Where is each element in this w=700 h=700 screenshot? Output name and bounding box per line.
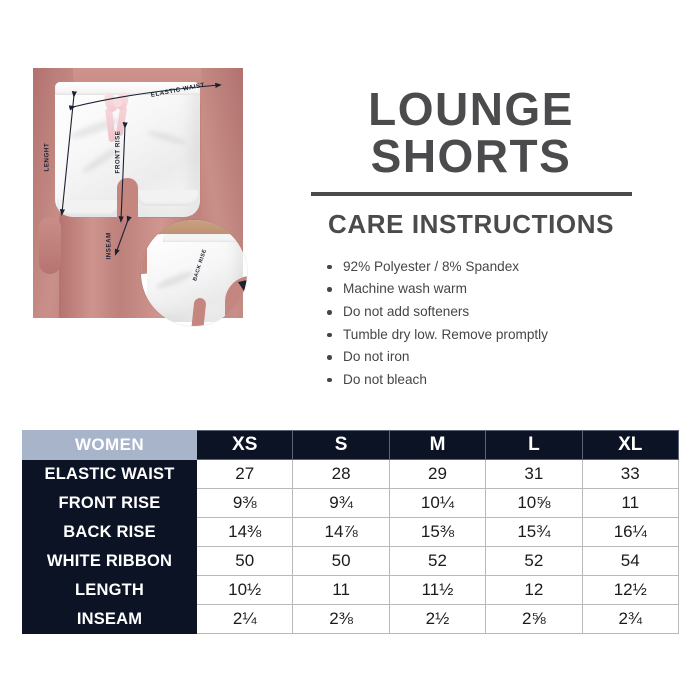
- title-line-2: SHORTS: [310, 133, 632, 180]
- header-size-m: M: [389, 431, 485, 460]
- cell-length-xs: 10½: [197, 576, 293, 605]
- cell-inseam-xl: 2¾: [582, 605, 678, 634]
- back-view-inset: BACK RISE: [141, 220, 247, 326]
- table-row: BACK RISE 14⅜ 14⅞ 15⅜ 15¾ 16¼: [23, 518, 679, 547]
- table-row: ELASTIC WAIST 27 28 29 31 33: [23, 460, 679, 489]
- arrow-back-rise: [244, 288, 247, 326]
- size-chart-table: WOMEN XS S M L XL ELASTIC WAIST 27 28 29…: [22, 430, 679, 634]
- cell-length-l: 12: [486, 576, 582, 605]
- cell-white-ribbon-xl: 54: [582, 547, 678, 576]
- arrow-inseam: [116, 220, 128, 253]
- cell-length-m: 11½: [389, 576, 485, 605]
- cell-front-rise-l: 10⅝: [486, 489, 582, 518]
- cell-inseam-l: 2⅝: [486, 605, 582, 634]
- care-instructions-heading: CARE INSTRUCTIONS: [310, 209, 632, 240]
- care-instruction-item: 92% Polyester / 8% Spandex: [326, 256, 632, 279]
- top-section: ELASTIC WAIST LENGHT FRONT RISE INSEAM: [0, 0, 700, 420]
- cell-white-ribbon-xs: 50: [197, 547, 293, 576]
- row-label-inseam: INSEAM: [23, 605, 197, 634]
- cell-white-ribbon-l: 52: [486, 547, 582, 576]
- product-info-panel: LOUNGE SHORTS CARE INSTRUCTIONS 92% Poly…: [310, 86, 632, 391]
- cell-back-rise-s: 14⅞: [293, 518, 389, 547]
- cell-back-rise-l: 15¾: [486, 518, 582, 547]
- cell-length-s: 11: [293, 576, 389, 605]
- care-instruction-item: Do not bleach: [326, 369, 632, 392]
- table-row: FRONT RISE 9⅜ 9¾ 10¼ 10⅝ 11: [23, 489, 679, 518]
- cell-inseam-s: 2⅜: [293, 605, 389, 634]
- arrow-front-rise: [121, 126, 125, 220]
- header-size-s: S: [293, 431, 389, 460]
- table-row: LENGTH 10½ 11 11½ 12 12½: [23, 576, 679, 605]
- header-size-l: L: [486, 431, 582, 460]
- care-instruction-item: Do not iron: [326, 346, 632, 369]
- cell-elastic-waist-m: 29: [389, 460, 485, 489]
- cell-back-rise-m: 15⅜: [389, 518, 485, 547]
- cell-white-ribbon-s: 50: [293, 547, 389, 576]
- care-instruction-item: Do not add softeners: [326, 301, 632, 324]
- header-size-xl: XL: [582, 431, 678, 460]
- annotation-front-rise: FRONT RISE: [115, 131, 122, 174]
- row-label-elastic-waist: ELASTIC WAIST: [23, 460, 197, 489]
- cell-elastic-waist-xs: 27: [197, 460, 293, 489]
- cell-back-rise-xl: 16¼: [582, 518, 678, 547]
- cell-front-rise-m: 10¼: [389, 489, 485, 518]
- row-label-front-rise: FRONT RISE: [23, 489, 197, 518]
- annotation-inseam: INSEAM: [106, 232, 113, 259]
- cell-front-rise-s: 9¾: [293, 489, 389, 518]
- table-row: WHITE RIBBON 50 50 52 52 54: [23, 547, 679, 576]
- care-instruction-item: Tumble dry low. Remove promptly: [326, 324, 632, 347]
- title-divider: [311, 192, 632, 196]
- care-instructions-list: 92% Polyester / 8% Spandex Machine wash …: [326, 256, 632, 391]
- care-instruction-item: Machine wash warm: [326, 278, 632, 301]
- cell-back-rise-xs: 14⅜: [197, 518, 293, 547]
- table-row: INSEAM 2¼ 2⅜ 2½ 2⅝ 2¾: [23, 605, 679, 634]
- arrow-length: [62, 95, 74, 213]
- product-title: LOUNGE SHORTS: [310, 86, 632, 180]
- cell-inseam-xs: 2¼: [197, 605, 293, 634]
- header-category: WOMEN: [23, 431, 197, 460]
- product-photo-panel: ELASTIC WAIST LENGHT FRONT RISE INSEAM: [33, 68, 295, 368]
- annotation-length: LENGHT: [44, 143, 51, 172]
- title-line-1: LOUNGE: [310, 86, 632, 133]
- cell-front-rise-xs: 9⅜: [197, 489, 293, 518]
- cell-front-rise-xl: 11: [582, 489, 678, 518]
- row-label-length: LENGTH: [23, 576, 197, 605]
- row-label-back-rise: BACK RISE: [23, 518, 197, 547]
- cell-elastic-waist-xl: 33: [582, 460, 678, 489]
- cell-inseam-m: 2½: [389, 605, 485, 634]
- cell-white-ribbon-m: 52: [389, 547, 485, 576]
- table-header-row: WOMEN XS S M L XL: [23, 431, 679, 460]
- cell-length-xl: 12½: [582, 576, 678, 605]
- cell-elastic-waist-s: 28: [293, 460, 389, 489]
- row-label-white-ribbon: WHITE RIBBON: [23, 547, 197, 576]
- cell-elastic-waist-l: 31: [486, 460, 582, 489]
- header-size-xs: XS: [197, 431, 293, 460]
